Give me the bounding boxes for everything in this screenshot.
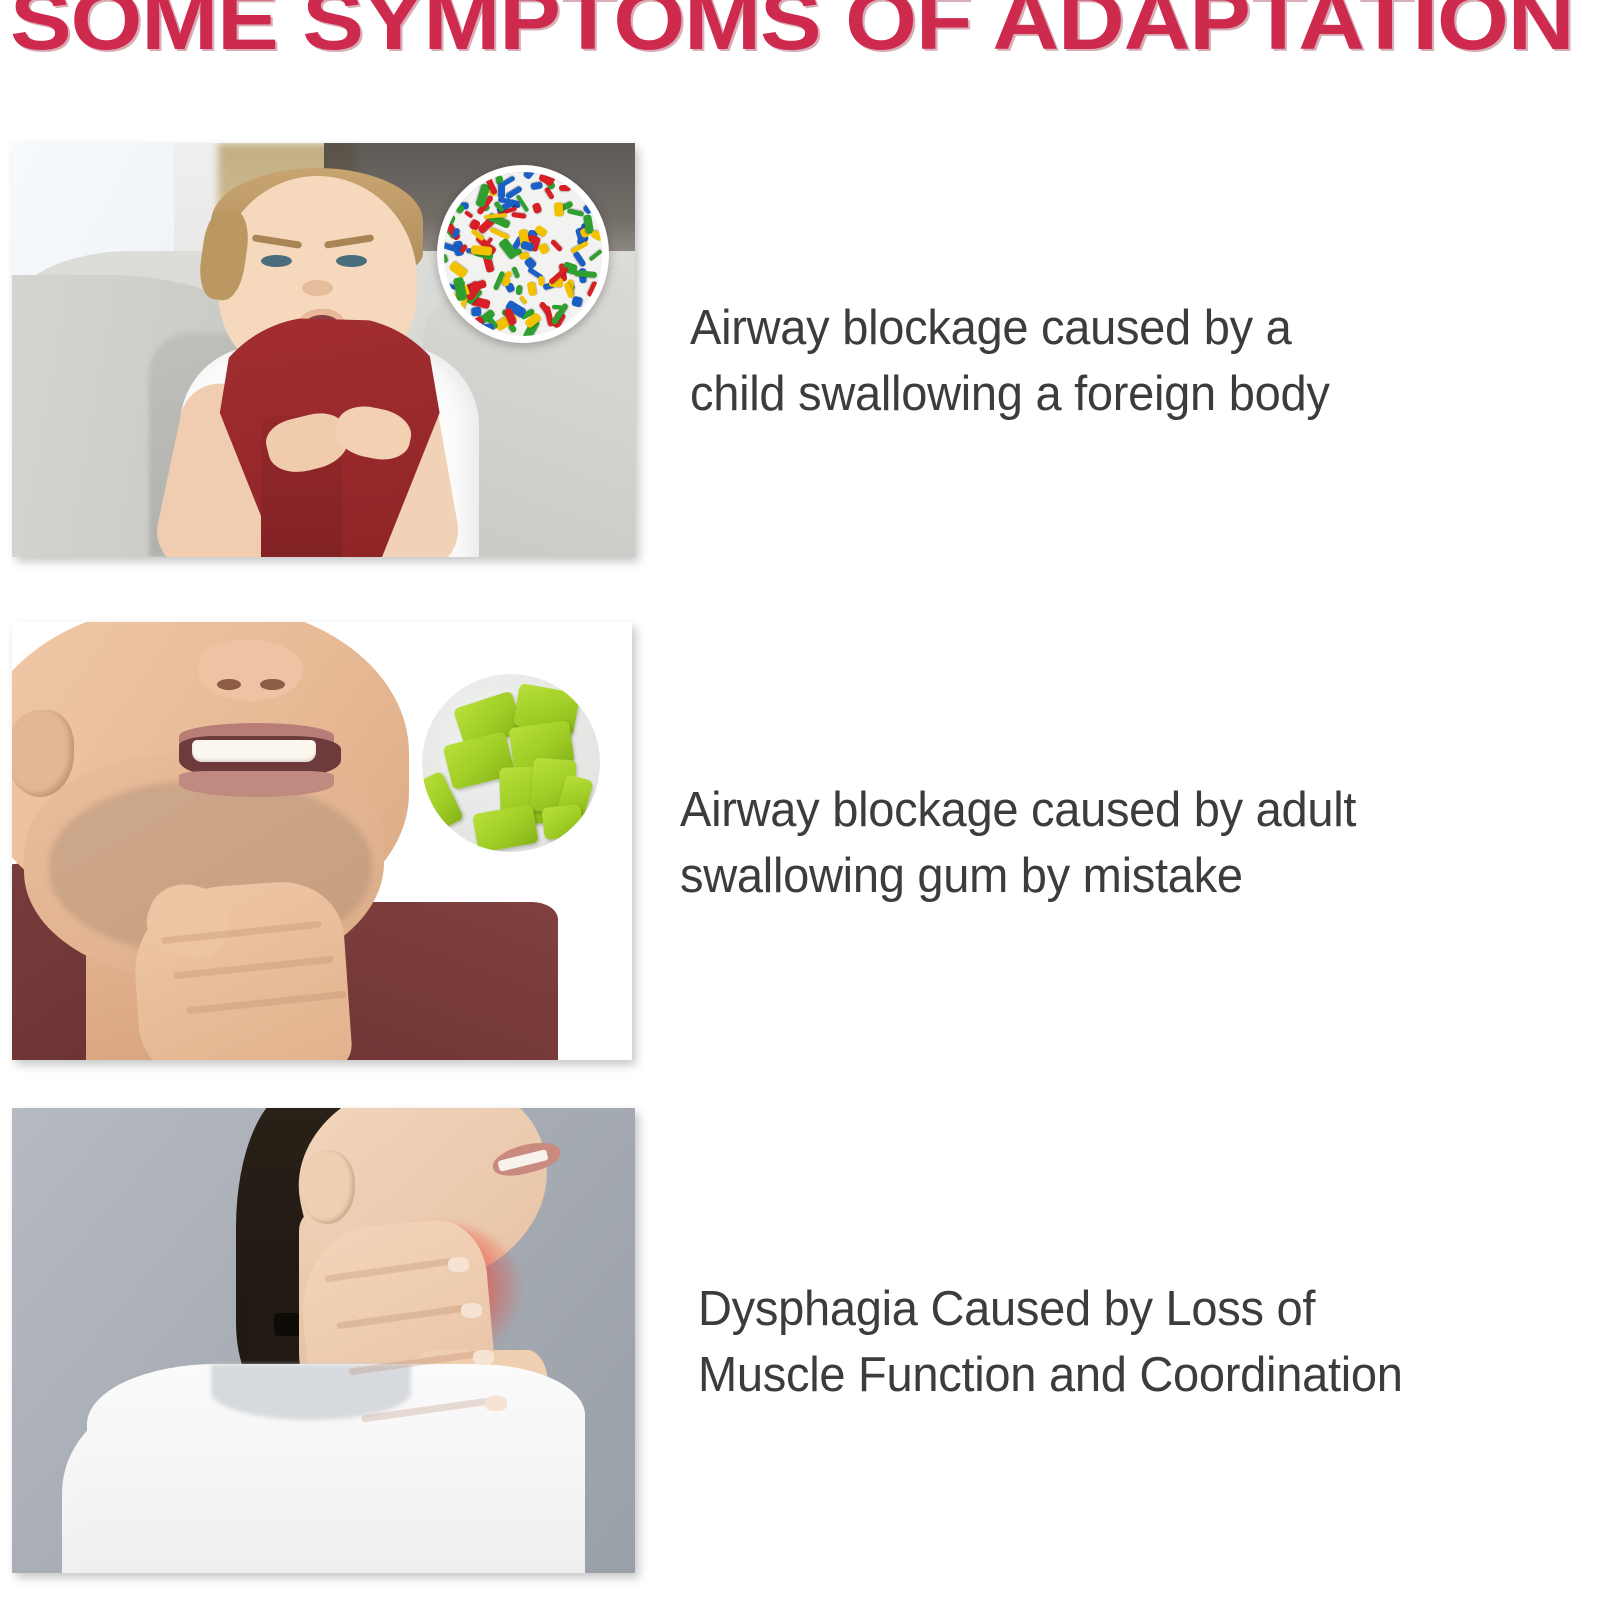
toy-piece bbox=[571, 296, 582, 308]
child-right-eye bbox=[336, 255, 367, 267]
toy-piece bbox=[464, 210, 474, 219]
symptom-row-2: Airway blockage caused by adult swallowi… bbox=[0, 622, 1600, 1062]
toy-piece bbox=[511, 266, 520, 279]
toy-piece bbox=[559, 185, 571, 191]
adult-choking-photo bbox=[12, 622, 632, 1060]
toy-piece bbox=[588, 249, 602, 262]
toy-piece bbox=[587, 281, 599, 298]
symptom-caption-2: Airway blockage caused by adult swallowi… bbox=[680, 777, 1506, 909]
symptom-caption-3: Dysphagia Caused by Loss of Muscle Funct… bbox=[698, 1276, 1524, 1408]
man-teeth bbox=[192, 740, 316, 762]
toy-pile bbox=[444, 172, 602, 336]
woman-fingernail bbox=[485, 1396, 506, 1411]
toy-piece bbox=[506, 165, 517, 171]
gum-piece bbox=[541, 804, 583, 840]
symptom-row-3: Dysphagia Caused by Loss of Muscle Funct… bbox=[0, 1108, 1600, 1578]
infographic-canvas: SOME SYMPTOMS OF ADAPTATION bbox=[0, 0, 1600, 1600]
toy-piece bbox=[550, 239, 563, 252]
toy-piece bbox=[538, 276, 545, 287]
toy-piece bbox=[503, 165, 513, 174]
page-title: SOME SYMPTOMS OF ADAPTATION bbox=[10, 0, 1600, 70]
toy-piece bbox=[484, 213, 507, 219]
symptom-row-1: Airway blockage caused by a child swallo… bbox=[0, 143, 1600, 563]
woman-fingernail bbox=[448, 1257, 469, 1272]
child-choking-photo bbox=[12, 143, 635, 557]
toy-piece bbox=[448, 307, 453, 329]
child-nose bbox=[302, 280, 333, 297]
plastic-toy-pieces-inset bbox=[437, 165, 609, 343]
toy-piece bbox=[520, 296, 529, 306]
woman-fingernail bbox=[473, 1350, 494, 1365]
woman-sore-throat-photo bbox=[12, 1108, 635, 1573]
toy-piece bbox=[532, 202, 543, 214]
toy-piece bbox=[471, 245, 493, 256]
toy-piece bbox=[527, 282, 537, 297]
woman-ear bbox=[299, 1150, 355, 1224]
toy-piece bbox=[554, 203, 564, 217]
toy-piece bbox=[588, 322, 600, 333]
chewing-gum-pieces-inset bbox=[422, 674, 600, 852]
man-nose bbox=[198, 640, 303, 701]
toy-piece bbox=[511, 212, 527, 219]
toy-piece bbox=[516, 284, 523, 295]
toy-piece bbox=[439, 252, 449, 263]
toy-piece bbox=[458, 189, 470, 195]
gum-pile bbox=[422, 674, 600, 852]
woman-fingernail bbox=[461, 1303, 482, 1318]
toy-piece bbox=[590, 230, 604, 242]
toy-piece bbox=[567, 208, 585, 217]
toy-piece bbox=[531, 181, 544, 190]
toy-piece bbox=[448, 261, 468, 280]
gum-piece bbox=[472, 804, 538, 852]
woman-shirt-collar-shadow bbox=[211, 1364, 410, 1420]
toy-piece bbox=[538, 242, 551, 255]
symptom-caption-1: Airway blockage caused by a child swallo… bbox=[690, 295, 1487, 427]
